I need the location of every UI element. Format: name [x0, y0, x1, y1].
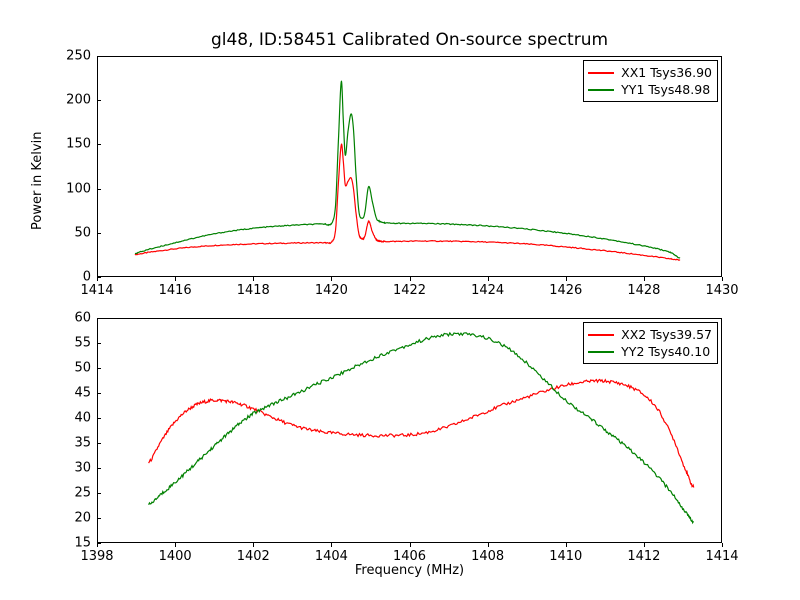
x-tick-label: 1420 [315, 283, 348, 298]
y-tick-mark [97, 100, 101, 101]
y-tick-label: 25 [47, 486, 91, 501]
y-tick-label: 60 [47, 311, 91, 326]
legend-entry: XX2 Tsys39.57 [588, 326, 712, 343]
y-tick-mark [97, 144, 101, 145]
y-tick-mark [97, 233, 101, 234]
x-tick-label: 1402 [237, 549, 270, 564]
y-tick-label: 150 [47, 137, 91, 152]
y-tick-label: 30 [47, 461, 91, 476]
y-tick-mark [97, 393, 101, 394]
x-tick-mark [253, 543, 254, 547]
y-tick-mark [97, 493, 101, 494]
y-tick-mark [97, 277, 101, 278]
x-tick-label: 1414 [80, 283, 113, 298]
x-tick-label: 1406 [393, 549, 426, 564]
x-tick-mark [644, 277, 645, 281]
y-tick-mark [97, 543, 101, 544]
legend-label-yy1: YY1 Tsys48.98 [621, 82, 710, 97]
x-tick-label: 1408 [471, 549, 504, 564]
legend-swatch-xx2 [588, 334, 614, 336]
x-tick-label: 1428 [627, 283, 660, 298]
y-tick-mark [97, 343, 101, 344]
x-tick-mark [253, 277, 254, 281]
series-line [135, 144, 680, 260]
x-tick-mark [175, 277, 176, 281]
y-tick-mark [97, 468, 101, 469]
y-tick-label: 40 [47, 411, 91, 426]
x-tick-label: 1414 [705, 549, 738, 564]
y-tick-label: 45 [47, 386, 91, 401]
x-tick-mark [722, 543, 723, 547]
y-tick-label: 35 [47, 436, 91, 451]
legend-label-xx2: XX2 Tsys39.57 [621, 327, 712, 342]
y-tick-label: 250 [47, 49, 91, 64]
x-tick-mark [644, 543, 645, 547]
x-tick-mark [488, 543, 489, 547]
x-tick-mark [488, 277, 489, 281]
legend-entry: YY2 Tsys40.10 [588, 343, 712, 360]
x-tick-mark [722, 277, 723, 281]
x-tick-mark [566, 277, 567, 281]
x-tick-label: 1412 [627, 549, 660, 564]
y-tick-label: 15 [47, 536, 91, 551]
y-tick-mark [97, 318, 101, 319]
legend-swatch-xx1 [588, 72, 614, 74]
x-tick-label: 1410 [549, 549, 582, 564]
x-tick-label: 1398 [80, 549, 113, 564]
y-axis-label-top: Power in Kelvin [30, 132, 45, 230]
top-plot-axes: XX1 Tsys36.90 YY1 Tsys48.98 [97, 56, 722, 277]
y-tick-mark [97, 443, 101, 444]
x-tick-mark [331, 543, 332, 547]
legend-label-yy2: YY2 Tsys40.10 [621, 344, 710, 359]
x-tick-mark [410, 277, 411, 281]
x-tick-label: 1400 [159, 549, 192, 564]
series-line [149, 379, 694, 487]
legend-entry: XX1 Tsys36.90 [588, 64, 712, 81]
y-tick-mark [97, 56, 101, 57]
x-tick-mark [566, 543, 567, 547]
series-line [135, 81, 680, 258]
y-tick-label: 55 [47, 336, 91, 351]
y-tick-mark [97, 368, 101, 369]
y-tick-label: 0 [47, 270, 91, 285]
legend-swatch-yy1 [588, 89, 614, 91]
x-tick-label: 1430 [705, 283, 738, 298]
page-title: gl48, ID:58451 Calibrated On-source spec… [97, 30, 722, 50]
bottom-plot-axes: XX2 Tsys39.57 YY2 Tsys40.10 [97, 318, 722, 543]
x-tick-mark [175, 543, 176, 547]
legend-top: XX1 Tsys36.90 YY1 Tsys48.98 [583, 60, 718, 102]
y-tick-mark [97, 418, 101, 419]
figure-canvas: gl48, ID:58451 Calibrated On-source spec… [0, 0, 800, 600]
legend-bottom: XX2 Tsys39.57 YY2 Tsys40.10 [583, 322, 718, 364]
y-tick-label: 200 [47, 93, 91, 108]
y-tick-label: 20 [47, 511, 91, 526]
x-tick-label: 1424 [471, 283, 504, 298]
y-tick-label: 50 [47, 361, 91, 376]
x-tick-label: 1426 [549, 283, 582, 298]
legend-swatch-yy2 [588, 351, 614, 353]
y-tick-mark [97, 518, 101, 519]
y-tick-label: 100 [47, 181, 91, 196]
x-axis-label: Frequency (MHz) [97, 563, 722, 578]
x-tick-mark [331, 277, 332, 281]
x-tick-label: 1416 [159, 283, 192, 298]
y-tick-label: 50 [47, 225, 91, 240]
y-tick-mark [97, 189, 101, 190]
x-tick-label: 1418 [237, 283, 270, 298]
x-tick-label: 1404 [315, 549, 348, 564]
legend-label-xx1: XX1 Tsys36.90 [621, 65, 712, 80]
x-tick-label: 1422 [393, 283, 426, 298]
x-tick-mark [410, 543, 411, 547]
legend-entry: YY1 Tsys48.98 [588, 81, 712, 98]
